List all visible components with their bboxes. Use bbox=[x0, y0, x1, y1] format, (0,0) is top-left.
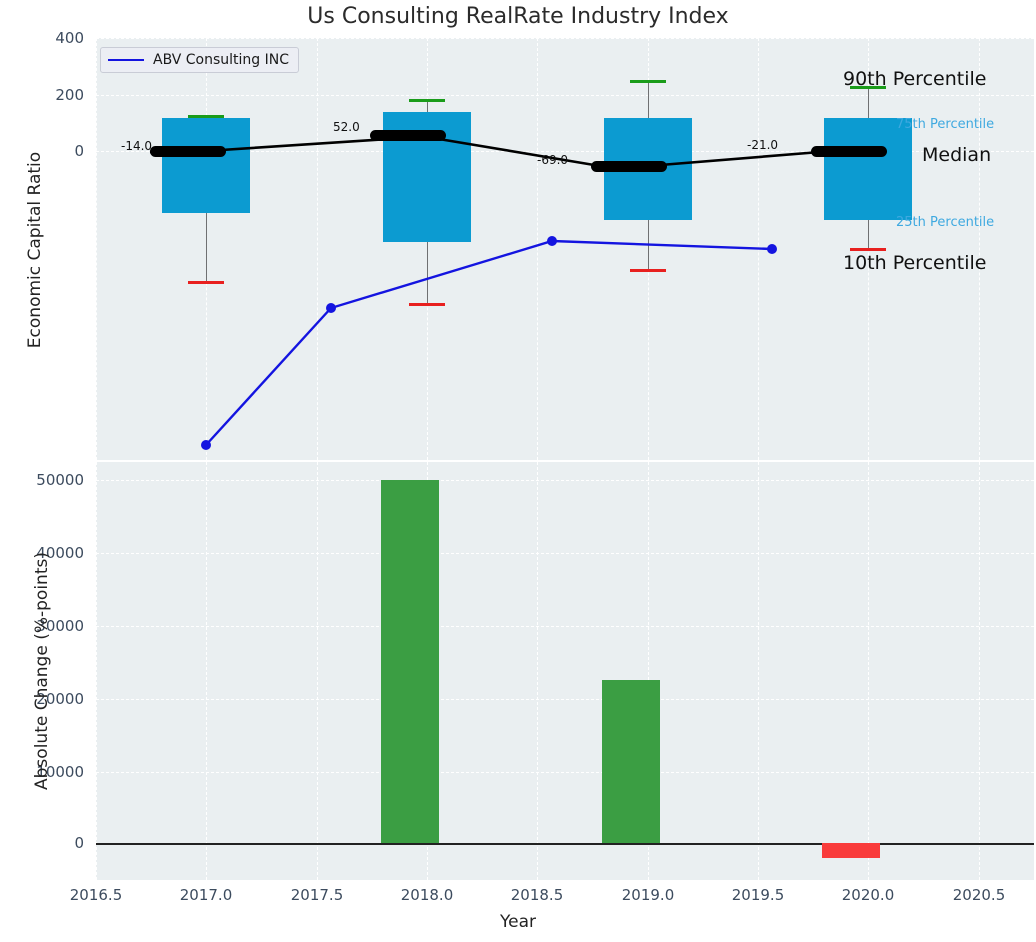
median-label-2017: -14.0 bbox=[121, 139, 152, 153]
annotation-10th-percentile: 10th Percentile bbox=[843, 252, 986, 274]
xtick-2020-0: 2020.0 bbox=[823, 886, 913, 904]
xtick-2020-5: 2020.5 bbox=[934, 886, 1024, 904]
annotation-75th-percentile: 75th Percentile bbox=[896, 117, 994, 132]
median-bar-2017 bbox=[150, 146, 226, 157]
xtick-2019-5: 2019.5 bbox=[713, 886, 803, 904]
median-label-2019: -69.0 bbox=[537, 153, 568, 167]
chart-overlay bbox=[0, 0, 1036, 942]
legend-line-icon bbox=[108, 59, 144, 61]
median-bar-2019 bbox=[591, 161, 667, 172]
median-bar-2020 bbox=[811, 146, 887, 157]
ytick-top-400: 400 bbox=[0, 29, 84, 47]
median-label-2020: -21.0 bbox=[747, 138, 778, 152]
y-axis-label-bottom: Absolute Change (%-points) bbox=[32, 506, 52, 836]
ytick-bot-0: 0 bbox=[0, 834, 84, 852]
x-axis-label: Year bbox=[0, 912, 1036, 932]
xtick-2017-0: 2017.0 bbox=[161, 886, 251, 904]
y-axis-label-top: Economic Capital Ratio bbox=[25, 130, 45, 370]
xtick-2017-5: 2017.5 bbox=[272, 886, 362, 904]
company-point-2018 bbox=[326, 303, 336, 313]
xtick-2016-5: 2016.5 bbox=[51, 886, 141, 904]
company-point-2020 bbox=[767, 244, 777, 254]
annotation-25th-percentile: 25th Percentile bbox=[896, 215, 994, 230]
annotation-90th-percentile: 90th Percentile bbox=[843, 68, 986, 90]
ytick-top-200: 200 bbox=[0, 86, 84, 104]
company-point-2019 bbox=[547, 236, 557, 246]
ytick-bot-50000: 50000 bbox=[0, 471, 84, 489]
legend[interactable]: ABV Consulting INC bbox=[100, 47, 299, 73]
median-bar-2018 bbox=[370, 130, 446, 141]
xtick-2018-0: 2018.0 bbox=[382, 886, 472, 904]
legend-label: ABV Consulting INC bbox=[153, 52, 289, 68]
company-point-2017 bbox=[201, 440, 211, 450]
company-line bbox=[206, 241, 772, 445]
annotation-median: Median bbox=[922, 144, 991, 166]
median-label-2018: 52.0 bbox=[333, 120, 360, 134]
xtick-2018-5: 2018.5 bbox=[492, 886, 582, 904]
chart-figure: Us Consulting RealRate Industry Index bbox=[0, 0, 1036, 942]
xtick-2019-0: 2019.0 bbox=[603, 886, 693, 904]
